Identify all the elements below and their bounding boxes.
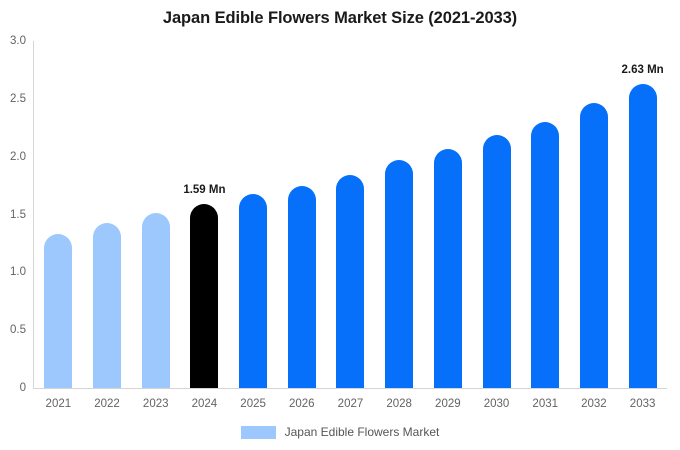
x-axis-tick-2026: 2026 (277, 398, 326, 410)
bar-slot (521, 41, 570, 388)
bar-slot (229, 41, 278, 388)
bar-value-label-2033: 2.63 Mn (622, 64, 664, 76)
bar-slot (34, 41, 83, 388)
x-axis-tick-2032: 2032 (570, 398, 619, 410)
x-axis-tick-2031: 2031 (521, 398, 570, 410)
bar-2033[interactable] (629, 84, 657, 388)
bar-slot (570, 41, 619, 388)
bar-2031[interactable] (531, 122, 559, 388)
bar-2030[interactable] (483, 135, 511, 388)
bar-2023[interactable] (142, 213, 170, 388)
x-axis-tick-2030: 2030 (472, 398, 521, 410)
x-axis-tick-2023: 2023 (131, 398, 180, 410)
y-axis-tick: 2.0 (10, 151, 26, 163)
bar-slot (424, 41, 473, 388)
bar-slot: 2.63 Mn (618, 41, 667, 388)
bar-2025[interactable] (239, 194, 267, 388)
bar-slot (277, 41, 326, 388)
y-axis-tick: 3.0 (10, 35, 26, 47)
bar-2022[interactable] (93, 223, 121, 388)
bar-slot (83, 41, 132, 388)
chart-legend: Japan Edible Flowers Market (0, 425, 680, 439)
x-axis-tick-2029: 2029 (424, 398, 473, 410)
bar-series: 1.59 Mn2.63 Mn (34, 41, 667, 388)
chart-title: Japan Edible Flowers Market Size (2021-2… (0, 9, 680, 28)
bar-2032[interactable] (580, 103, 608, 388)
x-axis-tick-2022: 2022 (83, 398, 132, 410)
bar-2028[interactable] (385, 160, 413, 388)
bar-2027[interactable] (336, 175, 364, 388)
x-axis-tick-2021: 2021 (34, 398, 83, 410)
bar-slot (472, 41, 521, 388)
y-axis-tick: 0.5 (10, 324, 26, 336)
y-axis-tick: 2.5 (10, 93, 26, 105)
y-axis-tick: 1.5 (10, 209, 26, 221)
x-axis-tick-2028: 2028 (375, 398, 424, 410)
bar-2029[interactable] (434, 149, 462, 388)
x-axis-tick-labels: 2021202220232024202520262027202820292030… (34, 398, 667, 410)
y-axis-tick: 0 (20, 382, 26, 394)
x-axis-tick-2033: 2033 (618, 398, 667, 410)
x-axis-tick-2025: 2025 (229, 398, 278, 410)
x-axis-tick-2024: 2024 (180, 398, 229, 410)
bar-value-label-2024: 1.59 Mn (183, 184, 225, 196)
x-axis-line (33, 388, 667, 389)
bar-slot (375, 41, 424, 388)
bar-2021[interactable] (44, 234, 72, 388)
bar-slot (326, 41, 375, 388)
legend-swatch-icon (241, 426, 276, 439)
bar-chart: Japan Edible Flowers Market Size (2021-2… (0, 0, 680, 450)
bar-2026[interactable] (288, 186, 316, 388)
legend-label: Japan Edible Flowers Market (285, 425, 440, 439)
x-axis-tick-2027: 2027 (326, 398, 375, 410)
bar-slot: 1.59 Mn (180, 41, 229, 388)
plot-area: 00.51.01.52.02.53.0 1.59 Mn2.63 Mn (33, 41, 667, 388)
y-axis-tick: 1.0 (10, 266, 26, 278)
bar-2024[interactable] (190, 204, 218, 388)
bar-slot (131, 41, 180, 388)
